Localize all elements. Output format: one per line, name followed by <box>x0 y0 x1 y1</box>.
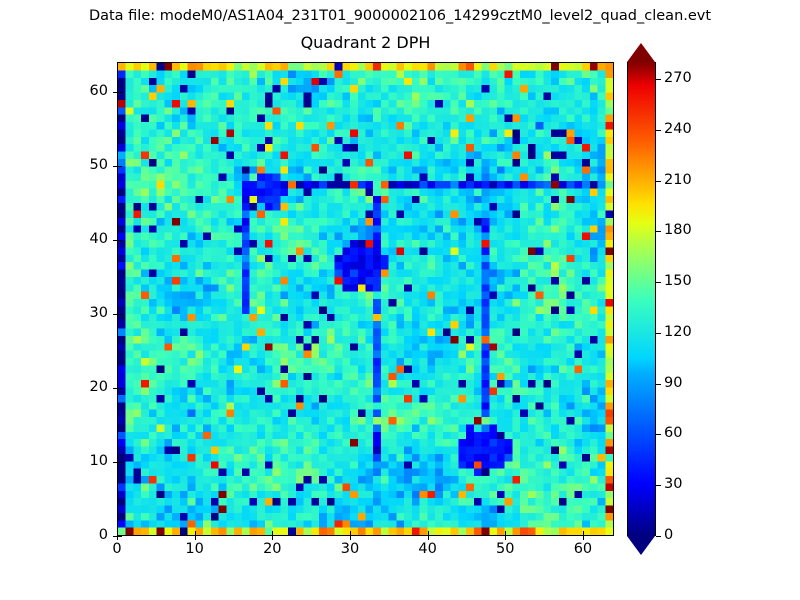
y-tick-mark <box>113 92 117 93</box>
y-tick-label: 40 <box>56 231 108 248</box>
colorbar-tick-label: 270 <box>664 70 692 87</box>
colorbar-tick-label: 120 <box>664 324 692 341</box>
y-tick-mark <box>113 240 117 241</box>
x-tick-label: 60 <box>553 541 613 558</box>
x-tick-label: 10 <box>165 541 225 558</box>
chart-title: Quadrant 2 DPH <box>117 33 614 53</box>
x-tick-mark-inner <box>583 531 584 535</box>
colorbar-tick-label: 0 <box>664 527 673 544</box>
y-tick-mark <box>113 314 117 315</box>
colorbar-body <box>627 62 656 536</box>
x-tick-mark-inner <box>117 531 118 535</box>
y-tick-label: 60 <box>56 83 108 100</box>
y-tick-mark-inner <box>118 166 122 167</box>
colorbar-tick-mark <box>656 130 661 131</box>
x-tick-label: 20 <box>242 541 302 558</box>
y-tick-label: 20 <box>56 379 108 396</box>
x-tick-mark-inner <box>195 531 196 535</box>
colorbar-tick-mark <box>656 181 661 182</box>
datafile-caption: Data file: modeM0/AS1A04_231T01_90000021… <box>0 7 800 25</box>
x-tick-mark-inner <box>350 531 351 535</box>
x-tick-mark <box>195 536 196 540</box>
x-tick-label: 50 <box>475 541 535 558</box>
y-tick-label: 0 <box>56 527 108 544</box>
colorbar-tick-mark <box>656 282 661 283</box>
colorbar-tick-label: 30 <box>664 476 682 493</box>
colorbar-over-arrow <box>627 43 655 62</box>
y-tick-mark <box>113 536 117 537</box>
colorbar-tick-mark <box>656 333 661 334</box>
x-tick-mark <box>428 536 429 540</box>
y-tick-label: 10 <box>56 453 108 470</box>
colorbar-tick-label: 90 <box>664 375 682 392</box>
x-tick-mark <box>272 536 273 540</box>
colorbar-tick-label: 60 <box>664 425 682 442</box>
y-tick-label: 30 <box>56 305 108 322</box>
y-tick-mark <box>113 388 117 389</box>
colorbar-tick-mark <box>656 485 661 486</box>
y-tick-mark-inner <box>118 314 122 315</box>
colorbar-tick-mark <box>656 231 661 232</box>
colorbar-tick-label: 150 <box>664 273 692 290</box>
colorbar-tick-mark <box>656 536 661 537</box>
y-tick-mark-inner <box>118 92 122 93</box>
colorbar-gradient <box>628 62 655 536</box>
x-tick-mark <box>350 536 351 540</box>
x-tick-mark <box>505 536 506 540</box>
y-tick-mark <box>113 166 117 167</box>
colorbar-tick-label: 180 <box>664 222 692 239</box>
colorbar-tick-label: 210 <box>664 172 692 189</box>
x-tick-mark-inner <box>428 531 429 535</box>
y-tick-mark <box>113 462 117 463</box>
heatmap-image <box>118 63 613 535</box>
x-tick-mark-inner <box>272 531 273 535</box>
colorbar-tick-mark <box>656 384 661 385</box>
x-tick-mark <box>583 536 584 540</box>
x-tick-mark-inner <box>505 531 506 535</box>
y-tick-mark-inner <box>118 240 122 241</box>
colorbar <box>627 62 656 536</box>
colorbar-under-arrow <box>627 536 655 555</box>
colorbar-tick-mark <box>656 79 661 80</box>
x-tick-label: 40 <box>398 541 458 558</box>
figure-canvas: Data file: modeM0/AS1A04_231T01_90000021… <box>0 0 800 600</box>
heatmap-axes <box>117 62 614 536</box>
y-tick-mark-inner <box>118 536 122 537</box>
colorbar-tick-label: 240 <box>664 121 692 138</box>
y-tick-label: 50 <box>56 157 108 174</box>
x-tick-label: 30 <box>320 541 380 558</box>
y-tick-mark-inner <box>118 462 122 463</box>
colorbar-tick-mark <box>656 434 661 435</box>
y-tick-mark-inner <box>118 388 122 389</box>
